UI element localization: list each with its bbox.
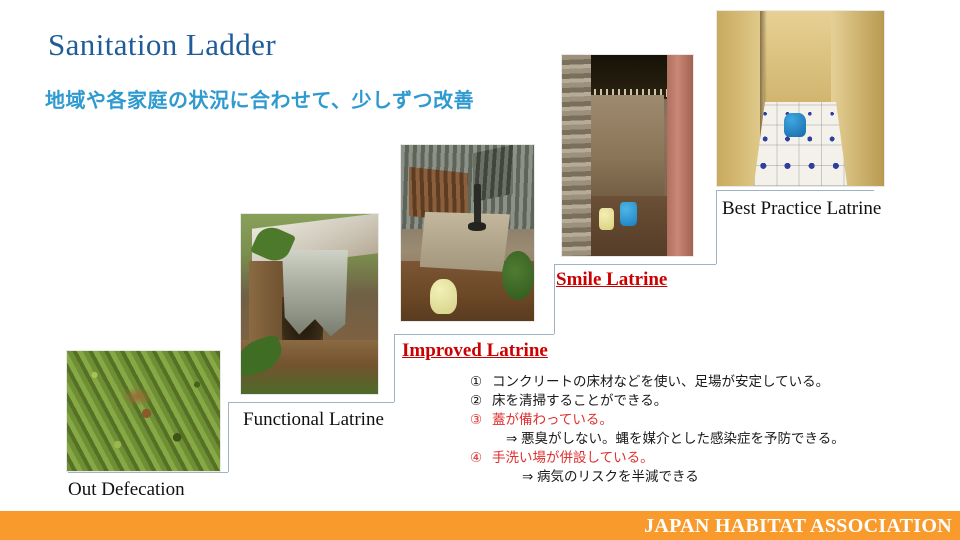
footer-bar: JAPAN HABITAT ASSOCIATION <box>0 511 960 540</box>
criteria-subnote-3: ⇒ 悪臭がしない。蝿を媒介とした感染症を予防できる。 <box>470 429 940 448</box>
connector-step4-to-step5 <box>554 264 726 265</box>
footer-organization-name: JAPAN HABITAT ASSOCIATION <box>644 515 952 538</box>
connector-step3-to-step4 <box>394 334 564 335</box>
slide-canvas: Sanitation Ladder 地域や各家庭の状況に合わせて、少しずつ改善 <box>0 0 960 540</box>
criteria-list: ① コンクリートの床材などを使い、足場が安定している。 ② 床を清掃することがで… <box>470 372 940 486</box>
step-label-out-defecation: Out Defecation <box>68 479 185 501</box>
criteria-number-2: ② <box>470 391 492 410</box>
connector-step5-endcap <box>716 190 876 191</box>
connector-step2-to-step3 <box>228 402 403 403</box>
best-practice-latrine-tiled-photo <box>716 10 885 187</box>
criteria-number-4: ④ <box>470 448 492 467</box>
step-label-smile-latrine: Smile Latrine <box>556 269 667 291</box>
improved-latrine-metal-shed-photo <box>400 144 535 322</box>
criteria-text-3: 蓋が備わっている。 <box>492 410 613 429</box>
open-defecation-grass-photo <box>66 350 221 472</box>
criteria-item-1: ① コンクリートの床材などを使い、足場が安定している。 <box>470 372 940 391</box>
criteria-text-4: 手洗い場が併設している。 <box>492 448 654 467</box>
step-label-best-practice-latrine: Best Practice Latrine <box>722 198 881 220</box>
functional-latrine-mud-hut-photo <box>240 213 379 395</box>
criteria-text-2: 床を清掃することができる。 <box>492 391 667 410</box>
criteria-subnote-4: ⇒ 病気のリスクを半減できる <box>470 467 940 486</box>
step-label-improved-latrine: Improved Latrine <box>402 340 548 362</box>
criteria-text-1: コンクリートの床材などを使い、足場が安定している。 <box>492 372 829 391</box>
smile-latrine-interior-photo <box>561 54 694 257</box>
page-subtitle: 地域や各家庭の状況に合わせて、少しずつ改善 <box>45 84 474 113</box>
step-label-functional-latrine: Functional Latrine <box>243 409 384 431</box>
page-title: Sanitation Ladder <box>48 27 276 63</box>
criteria-item-3: ③ 蓋が備わっている。 <box>470 410 940 429</box>
criteria-number-1: ① <box>470 372 492 391</box>
criteria-item-2: ② 床を清掃することができる。 <box>470 391 940 410</box>
criteria-number-3: ③ <box>470 410 492 429</box>
criteria-item-4: ④ 手洗い場が併設している。 <box>470 448 940 467</box>
